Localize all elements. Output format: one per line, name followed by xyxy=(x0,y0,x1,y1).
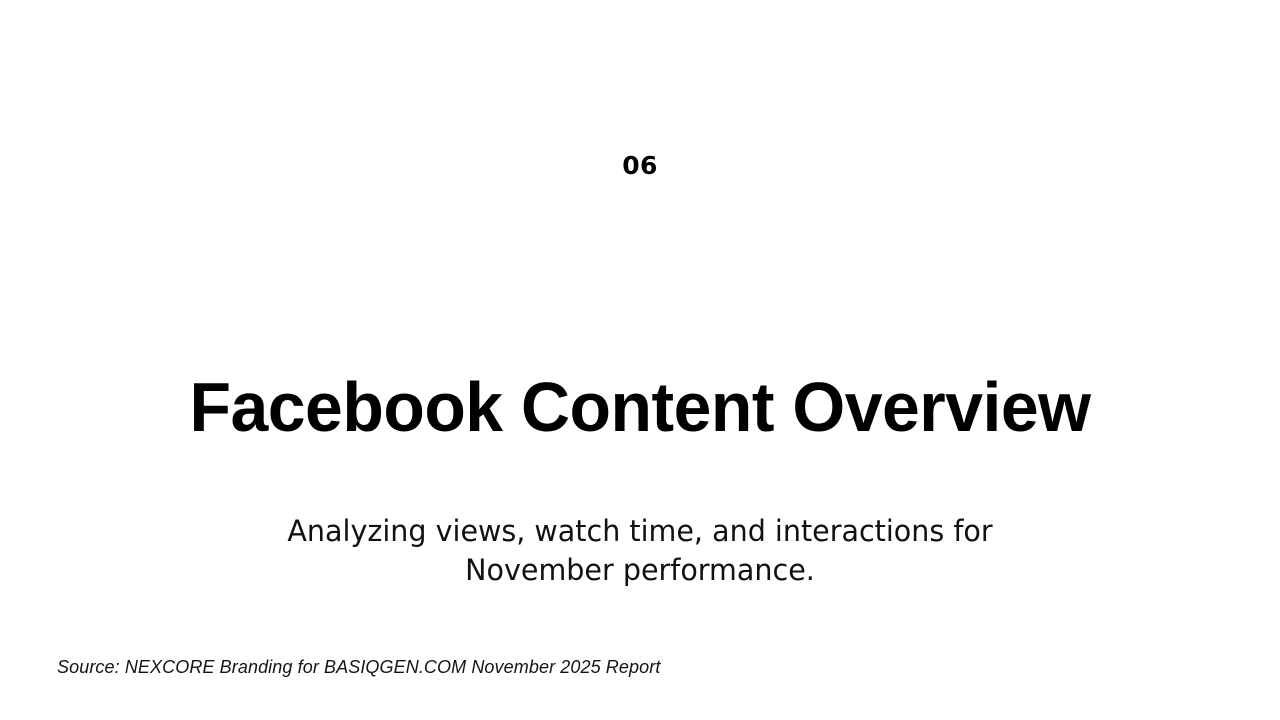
page-title: Facebook Content Overview xyxy=(107,369,1174,446)
subtitle-line-2: November performance. xyxy=(246,551,1034,590)
source-note: Source: NEXCORE Branding for BASIQGEN.CO… xyxy=(57,656,660,679)
presentation-slide: 06 Facebook Content Overview Analyzing v… xyxy=(0,0,1280,720)
slide-subtitle: Analyzing views, watch time, and interac… xyxy=(246,512,1034,590)
subtitle-line-1: Analyzing views, watch time, and interac… xyxy=(246,512,1034,551)
section-number: 06 xyxy=(0,152,1280,180)
